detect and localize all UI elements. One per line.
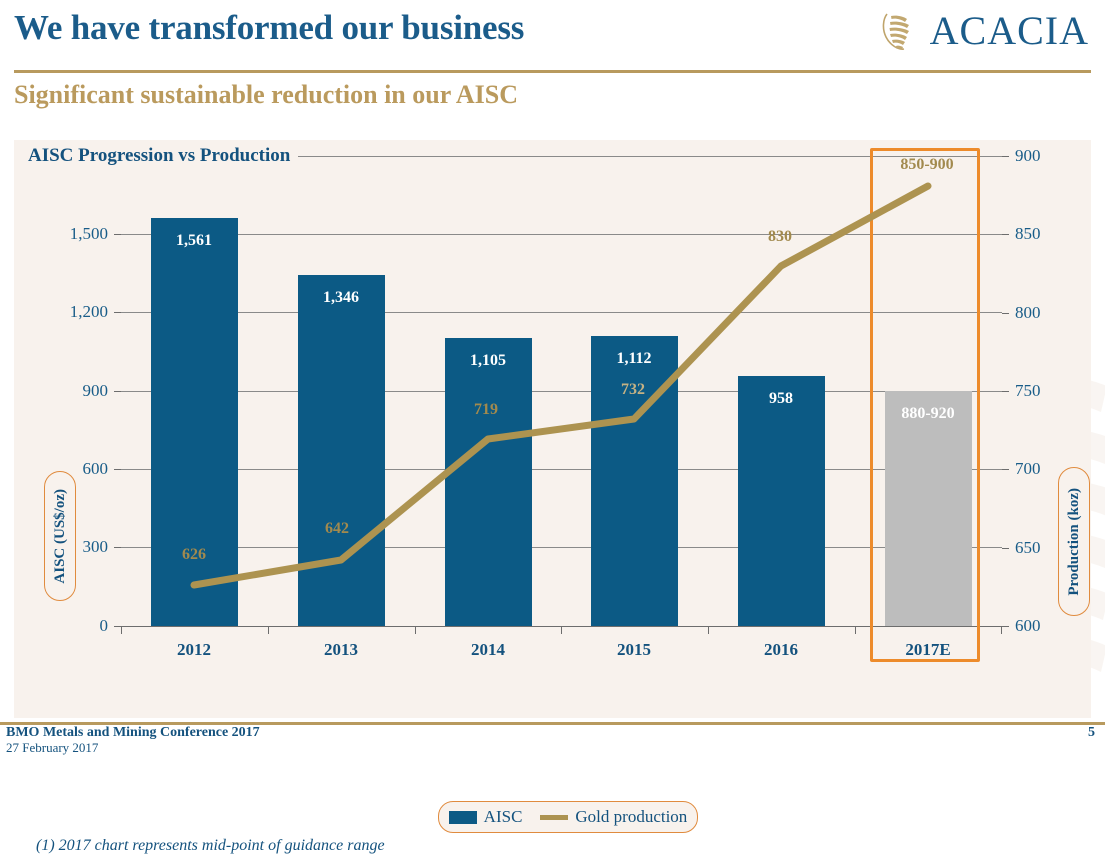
tick-right-700 bbox=[1002, 469, 1009, 470]
right-axis-label: Production (koz) bbox=[1058, 467, 1090, 616]
line-label-2014: 719 bbox=[474, 401, 498, 419]
y-tick-label-right-0: 600 bbox=[1009, 616, 1041, 636]
y-tick-label-right-2: 700 bbox=[1009, 459, 1041, 479]
y-tick-label-right-6: 900 bbox=[1009, 146, 1041, 166]
chart-legend: AISC Gold production bbox=[438, 801, 698, 833]
chart-panel: AISC Progression vs Production AISC (US$… bbox=[14, 140, 1091, 718]
x-label-2015: 2015 bbox=[617, 640, 651, 660]
page-number: 5 bbox=[1088, 725, 1095, 741]
x-label-2012: 2012 bbox=[177, 640, 211, 660]
line-label-2016: 830 bbox=[768, 228, 792, 246]
tick-x-1 bbox=[268, 626, 269, 634]
y-tick-label-right-5: 850 bbox=[1009, 224, 1041, 244]
header-divider bbox=[14, 70, 1091, 73]
tick-right-850 bbox=[1002, 234, 1009, 235]
tick-right-600 bbox=[1002, 626, 1009, 627]
legend-item-gold-production[interactable]: Gold production bbox=[540, 807, 687, 827]
y-tick-label-right-3: 750 bbox=[1009, 381, 1041, 401]
y-tick-label-right-4: 800 bbox=[1009, 303, 1041, 323]
tick-right-750 bbox=[1002, 391, 1009, 392]
x-label-2013: 2013 bbox=[324, 640, 358, 660]
footer-date: 27 February 2017 bbox=[6, 740, 98, 756]
line-label-2013: 642 bbox=[325, 520, 349, 538]
tick-x-3 bbox=[561, 626, 562, 634]
left-axis-label: AISC (US$/oz) bbox=[44, 471, 76, 601]
chart-title: AISC Progression vs Production bbox=[28, 145, 298, 167]
acacia-globe-icon bbox=[878, 7, 924, 55]
line-label-2012: 626 bbox=[182, 546, 206, 564]
footer-conference: BMO Metals and Mining Conference 2017 bbox=[6, 725, 260, 741]
line-label-2015: 732 bbox=[621, 381, 645, 399]
y-tick-label-left-1: 300 bbox=[28, 537, 120, 557]
acacia-logo: ACACIA bbox=[878, 7, 1089, 55]
legend-label-aisc: AISC bbox=[484, 807, 523, 827]
y-tick-label-left-0: 0 bbox=[28, 616, 120, 636]
legend-swatch-aisc-icon bbox=[449, 811, 477, 824]
tick-right-800 bbox=[1002, 313, 1009, 314]
tick-x-0 bbox=[121, 626, 122, 634]
x-label-2016: 2016 bbox=[764, 640, 798, 660]
gold-production-line bbox=[121, 156, 1002, 626]
page-title: We have transformed our business bbox=[14, 8, 524, 48]
plot-area: 1,500 1,200 900 600 300 0 900 850 800 75… bbox=[121, 156, 1002, 768]
page-subtitle: Significant sustainable reduction in our… bbox=[14, 80, 518, 110]
line-label-2017e: 850-900 bbox=[900, 156, 953, 174]
acacia-logo-text: ACACIA bbox=[930, 11, 1089, 51]
y-tick-label-left-3: 900 bbox=[28, 381, 120, 401]
y-tick-label-left-5: 1,500 bbox=[28, 224, 120, 244]
tick-x-4 bbox=[708, 626, 709, 634]
tick-right-900 bbox=[1002, 156, 1009, 157]
legend-label-gold-production: Gold production bbox=[575, 807, 687, 827]
legend-item-aisc[interactable]: AISC bbox=[449, 807, 523, 827]
y-tick-label-right-1: 650 bbox=[1009, 538, 1041, 558]
tick-x-5 bbox=[855, 626, 856, 634]
legend-swatch-gold-production-icon bbox=[540, 815, 568, 820]
y-tick-label-left-4: 1,200 bbox=[28, 302, 120, 322]
x-label-2014: 2014 bbox=[471, 640, 505, 660]
tick-right-650 bbox=[1002, 548, 1009, 549]
tick-x-2 bbox=[415, 626, 416, 634]
y-tick-label-left-2: 600 bbox=[28, 459, 120, 479]
tick-x-6 bbox=[1001, 626, 1002, 634]
chart-footnote: (1) 2017 chart represents mid-point of g… bbox=[36, 837, 385, 855]
